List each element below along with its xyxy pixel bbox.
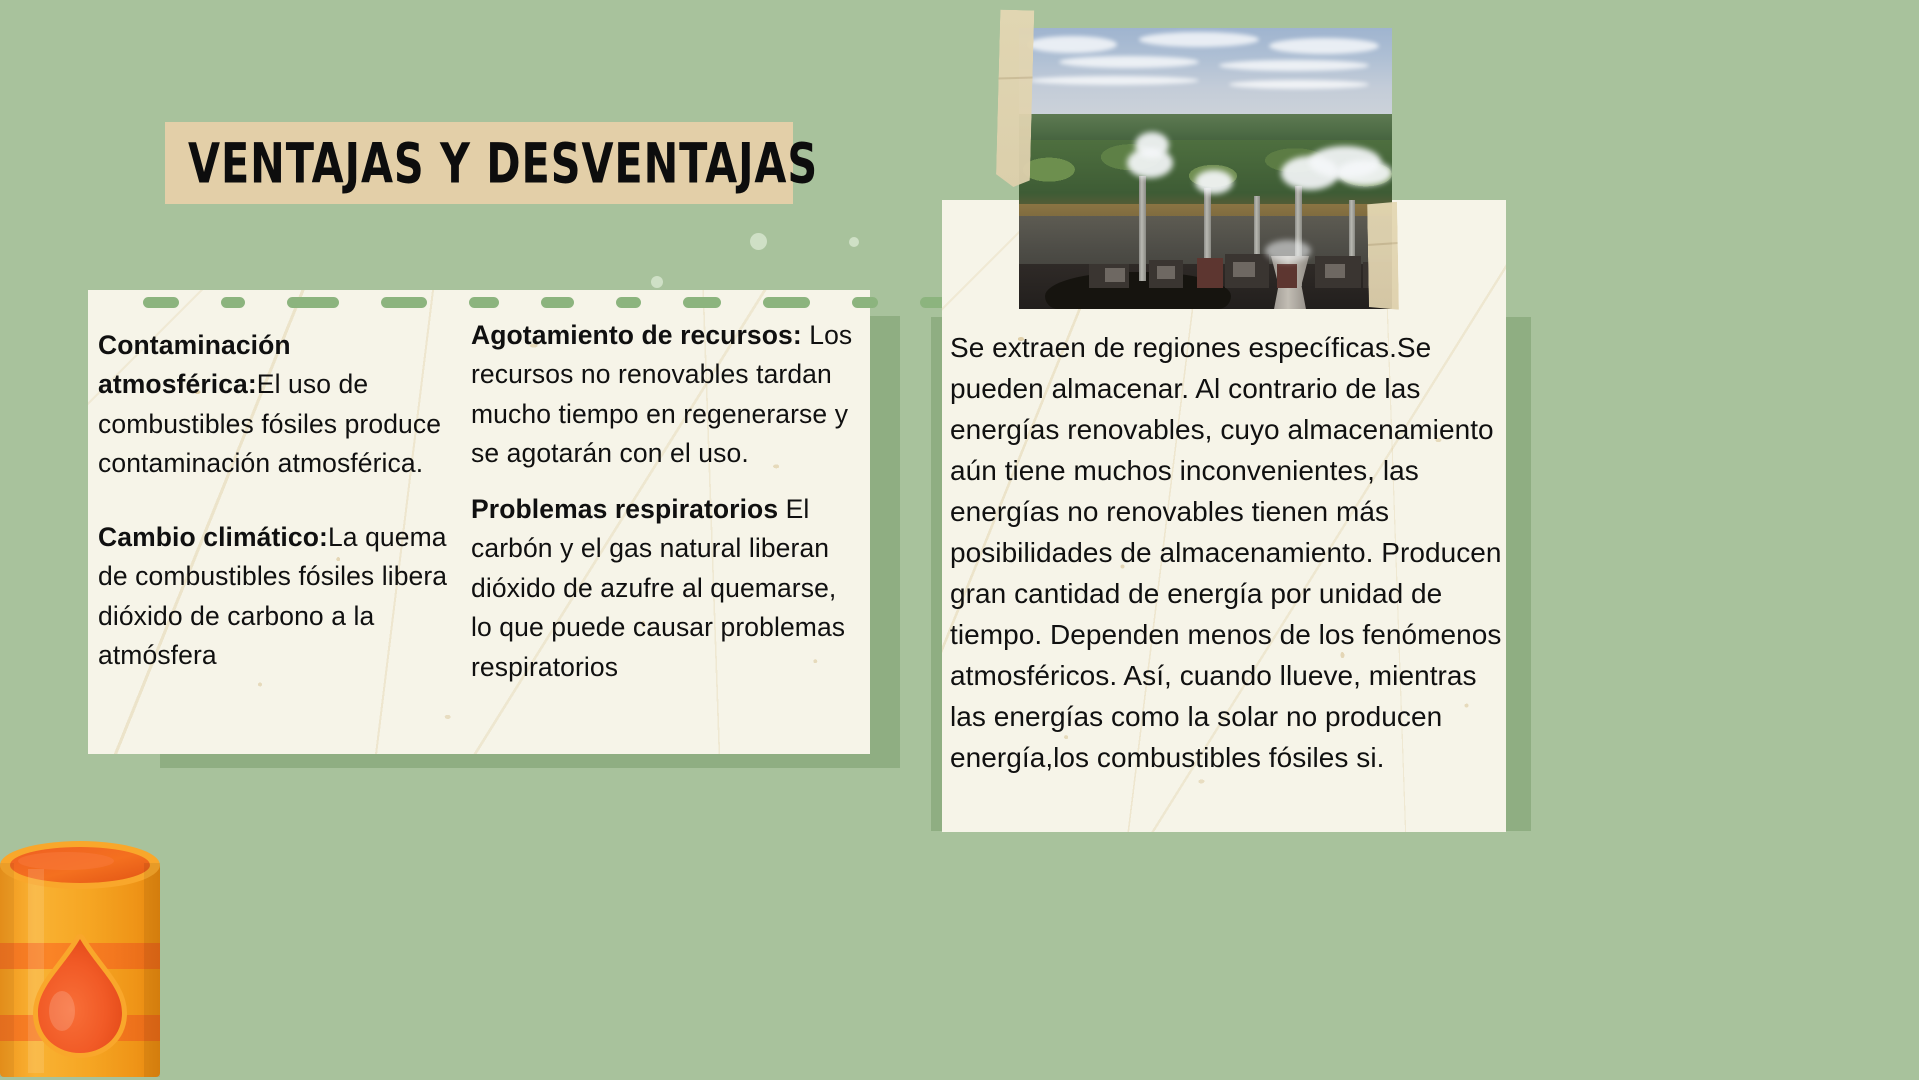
decor-dot [849,237,859,247]
barrel-shade-right [144,863,160,1077]
barrel-shade-left [0,863,14,1077]
cloud [1059,56,1199,68]
heading-problemas-respiratorios: Problemas respiratorios [471,494,778,524]
cloud [1029,76,1199,85]
page-title: VENTAJAS Y DESVENTAJAS [165,131,818,196]
smoke-plume [1337,160,1392,186]
plant-building [1325,264,1345,278]
text-block-problemas-respiratorios: Problemas respiratorios El carbón y el g… [471,490,853,687]
heading-cambio-climatico: Cambio climático: [98,522,328,552]
cloud [1027,36,1117,53]
cloud [1229,80,1369,89]
decor-dot [750,233,767,250]
text-block-contaminacion: Contaminación atmosférica:El uso de comb… [98,326,448,484]
cloud [1269,38,1379,54]
power-plant-photo [1019,28,1392,309]
oil-drop-highlight [49,991,75,1031]
plant-building [1277,264,1297,288]
left-card-column-two: Agotamiento de recursos: Los recursos no… [471,316,853,687]
plant-building [1157,266,1175,279]
decor-dot [651,276,663,288]
left-card-column-one: Contaminación atmosférica:El uso de comb… [98,326,448,676]
heading-agotamiento: Agotamiento de recursos: [471,320,802,350]
barrel-highlight [28,869,44,1073]
plant-building [1233,262,1255,277]
right-card-paragraph: Se extraen de regiones específicas.Se pu… [950,327,1506,778]
text-block-agotamiento: Agotamiento de recursos: Los recursos no… [471,316,853,474]
washi-tape-bottom-right [1367,202,1399,311]
text-block-cambio-climatico: Cambio climático:La quema de combustible… [98,518,448,676]
cloud [1139,32,1259,47]
oil-barrel-illustration [0,835,166,1080]
title-banner: VENTAJAS Y DESVENTAJAS [165,122,793,204]
plant-building [1197,258,1223,288]
right-card-paragraph-wrap: Se extraen de regiones específicas.Se pu… [950,327,1506,778]
smoke-plume [1195,170,1233,194]
washi-tape-top-left [996,10,1035,188]
cloud [1219,60,1369,71]
smokestack [1139,176,1146,281]
barrel-opening-highlight [18,852,114,870]
smoke-plume [1265,240,1311,262]
slide-canvas: VENTAJAS Y DESVENTAJAS Contaminación atm… [0,0,1919,1080]
smoke-plume [1135,132,1169,158]
plant-building [1105,268,1125,282]
